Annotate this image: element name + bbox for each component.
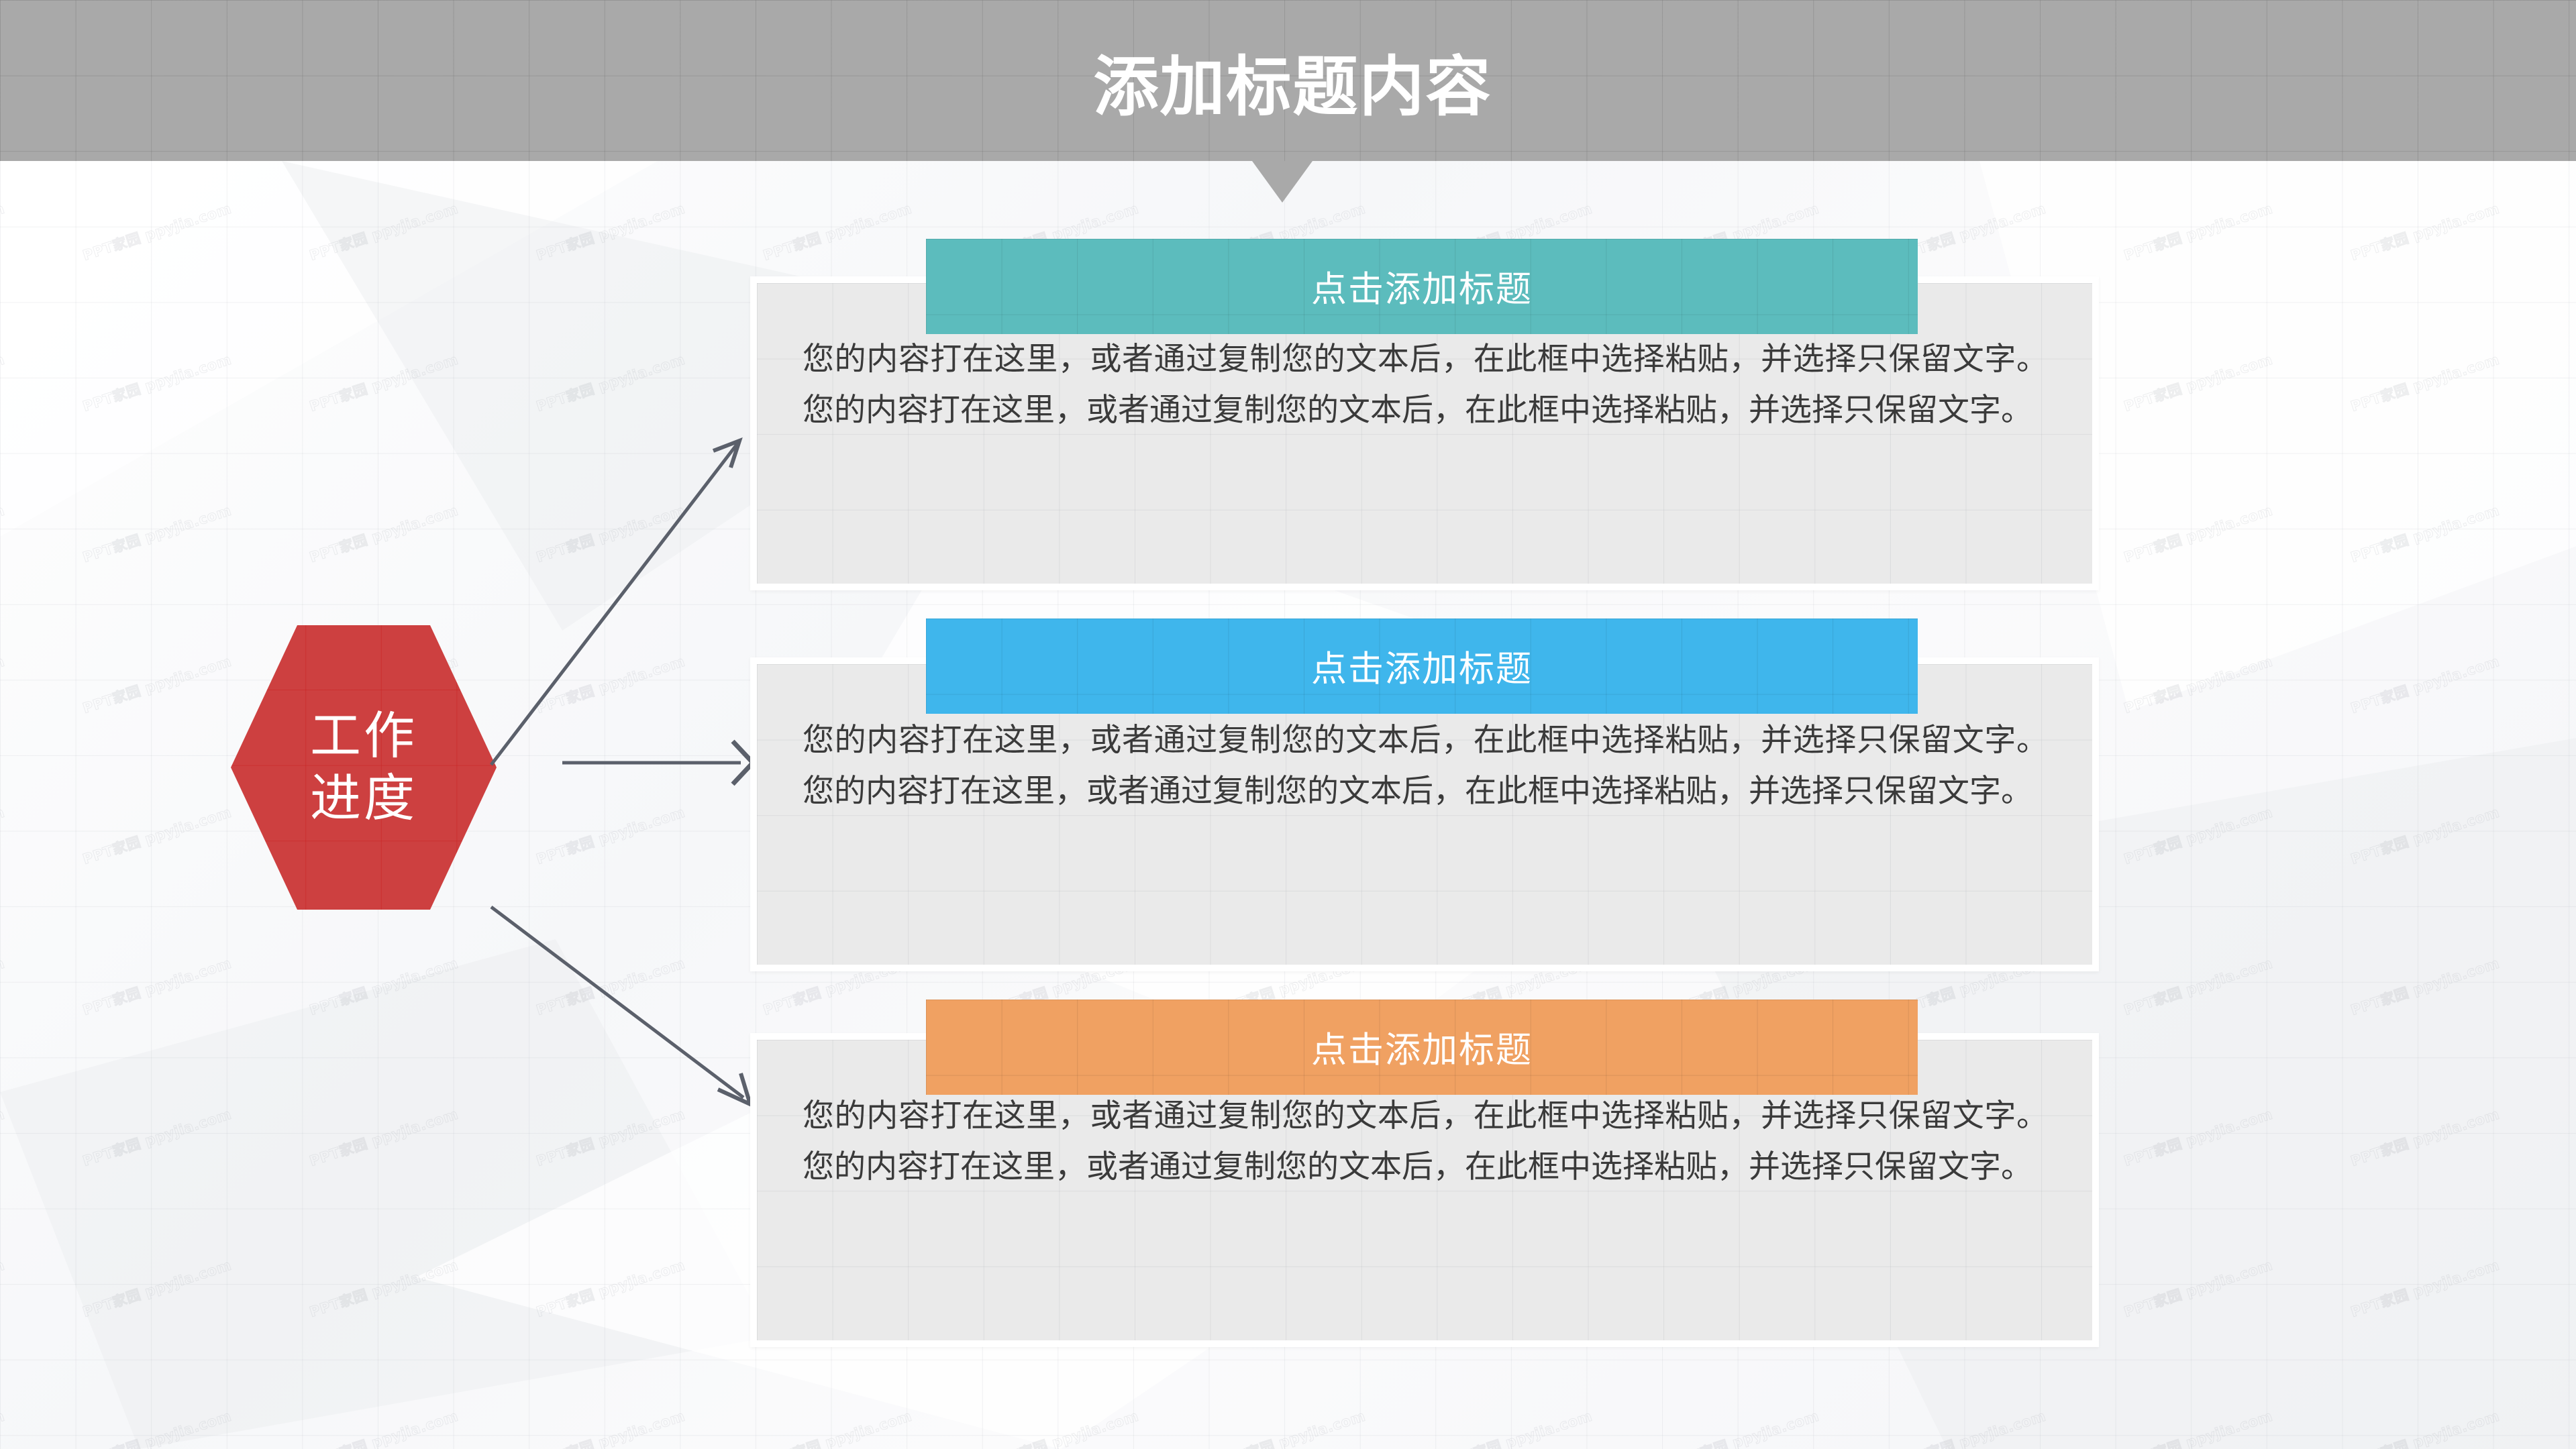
header-band: 添加标题内容: [0, 0, 2576, 161]
hexagon-label-line2: 进度: [310, 767, 417, 830]
slide-canvas: PPT家园 ppyjia.comPPT家园 ppyjia.comPPT家园 pp…: [0, 0, 2576, 1449]
panel-2-header[interactable]: 点击添加标题: [926, 619, 1918, 714]
panel-3-header-label: 点击添加标题: [1311, 1022, 1533, 1073]
hexagon-label: 工作 进度: [231, 625, 497, 910]
panel-1-body-text: 您的内容打在这里，或者通过复制您的文本后，在此框中选择粘贴，并选择只保留文字。您…: [803, 334, 2048, 436]
panel-2-header-label: 点击添加标题: [1311, 641, 1533, 692]
panel-1-header[interactable]: 点击添加标题: [926, 239, 1918, 334]
panel-1-header-label: 点击添加标题: [1311, 261, 1533, 312]
hexagon-badge[interactable]: 工作 进度: [231, 625, 497, 910]
panel-2-body-text: 您的内容打在这里，或者通过复制您的文本后，在此框中选择粘贴，并选择只保留文字。您…: [803, 715, 2048, 817]
panel-3-header[interactable]: 点击添加标题: [926, 1000, 1918, 1095]
hexagon-label-line1: 工作: [310, 705, 417, 767]
page-title: 添加标题内容: [0, 0, 2576, 161]
panel-3-body-text: 您的内容打在这里，或者通过复制您的文本后，在此框中选择粘贴，并选择只保留文字。您…: [803, 1091, 2048, 1193]
header-pointer-triangle: [1252, 161, 1312, 203]
